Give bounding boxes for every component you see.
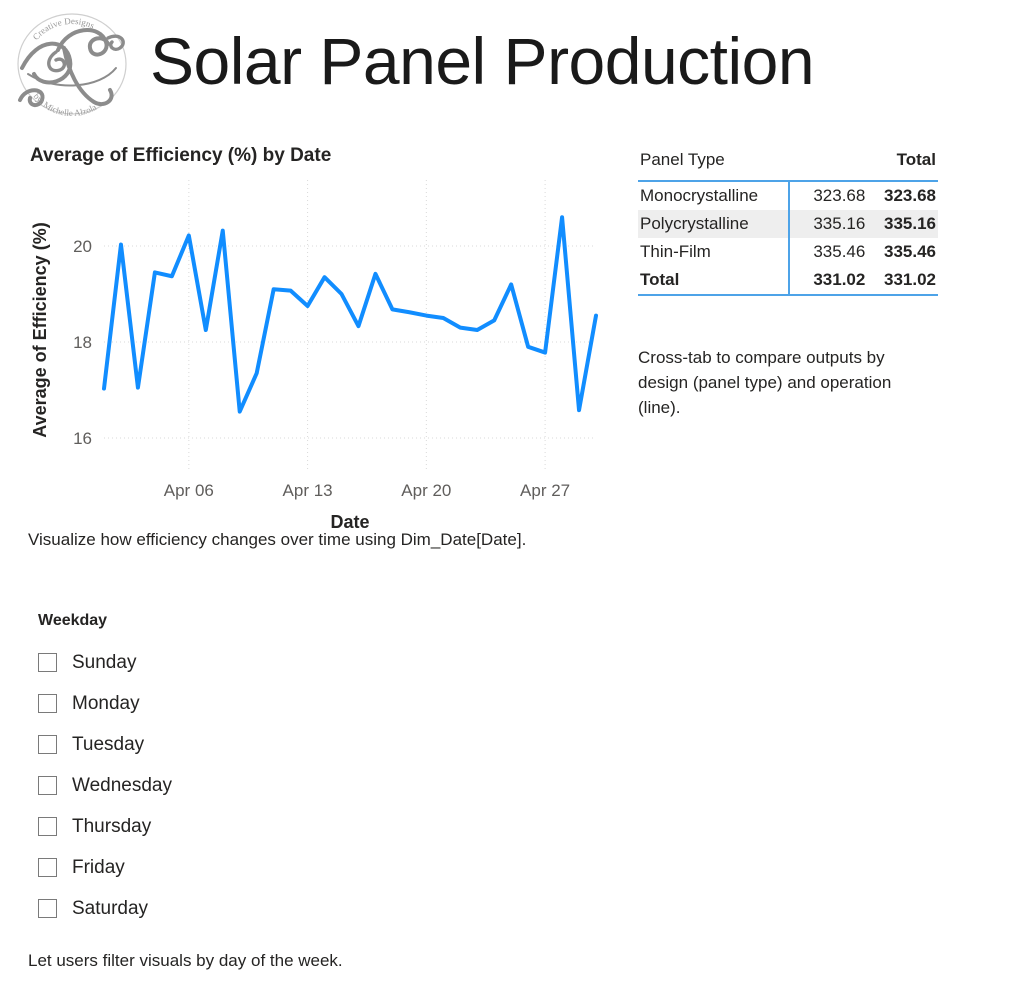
line-chart-caption: Visualize how efficiency changes over ti… [28, 530, 526, 550]
list-item[interactable]: Thursday [38, 806, 358, 847]
matrix-row-total: 335.46 [871, 238, 938, 266]
table-row[interactable]: Monocrystalline 323.68 323.68 [638, 181, 938, 210]
checkbox-icon[interactable] [38, 776, 57, 795]
y-axis-tick-label: 16 [73, 429, 92, 448]
chart-plot-container[interactable]: 161820Apr 06Apr 13Apr 20Apr 27DateAverag… [24, 172, 604, 540]
chart-title: Average of Efficiency (%) by Date [30, 145, 331, 167]
checkbox-icon[interactable] [38, 653, 57, 672]
slicer-caption: Let users filter visuals by day of the w… [28, 951, 343, 971]
matrix-total-label: Total [638, 266, 789, 295]
matrix-total-row[interactable]: Total 331.02 331.02 [638, 266, 938, 295]
matrix-row-value: 323.68 [789, 181, 871, 210]
table-row[interactable]: Thin-Film 335.46 335.46 [638, 238, 938, 266]
matrix-row-label[interactable]: Monocrystalline [638, 181, 789, 210]
matrix-row-value: 335.46 [789, 238, 871, 266]
chart-series-line[interactable] [104, 217, 596, 411]
slicer-item-label: Monday [72, 693, 140, 715]
list-item[interactable]: Wednesday [38, 765, 358, 806]
checkbox-icon[interactable] [38, 899, 57, 918]
list-item[interactable]: Saturday [38, 888, 358, 929]
brand-logo: Creative Designs by: Michelle Alzola [8, 8, 136, 120]
matrix-header-row: Panel Type Total [638, 148, 938, 181]
y-axis-title: Average of Efficiency (%) [30, 222, 50, 437]
slicer-item-label: Saturday [72, 898, 148, 920]
page-header: Creative Designs by: Michelle Alzola Sol… [0, 0, 1011, 128]
matrix-col-total[interactable]: Total [871, 148, 938, 181]
checkbox-icon[interactable] [38, 735, 57, 754]
weekday-slicer[interactable]: Weekday SundayMondayTuesdayWednesdayThur… [38, 612, 358, 929]
table-row[interactable]: Polycrystalline 335.16 335.16 [638, 210, 938, 238]
checkbox-icon[interactable] [38, 694, 57, 713]
checkbox-icon[interactable] [38, 817, 57, 836]
matrix-visual[interactable]: Panel Type Total Monocrystalline 323.68 … [638, 148, 938, 296]
x-axis-tick-label: Apr 06 [164, 481, 214, 500]
slicer-item-label: Tuesday [72, 734, 144, 756]
slicer-item-label: Thursday [72, 816, 151, 838]
x-axis-tick-label: Apr 20 [401, 481, 451, 500]
slicer-item-label: Friday [72, 857, 125, 879]
page-title: Solar Panel Production [150, 18, 814, 104]
matrix-table[interactable]: Panel Type Total Monocrystalline 323.68 … [638, 148, 938, 296]
matrix-col-blank[interactable] [789, 148, 871, 181]
slicer-item-label: Sunday [72, 652, 136, 674]
slicer-item-label: Wednesday [72, 775, 172, 797]
matrix-row-label[interactable]: Thin-Film [638, 238, 789, 266]
list-item[interactable]: Tuesday [38, 724, 358, 765]
line-chart-svg[interactable]: 161820Apr 06Apr 13Apr 20Apr 27DateAverag… [24, 172, 604, 540]
matrix-row-label[interactable]: Polycrystalline [638, 210, 789, 238]
y-axis-tick-label: 18 [73, 333, 92, 352]
matrix-caption: Cross-tab to compare outputs by design (… [638, 345, 938, 420]
matrix-body: Monocrystalline 323.68 323.68 Polycrysta… [638, 181, 938, 295]
slicer-header: Weekday [38, 612, 358, 630]
checkbox-icon[interactable] [38, 858, 57, 877]
matrix-total-total: 331.02 [871, 266, 938, 295]
x-axis-tick-label: Apr 27 [520, 481, 570, 500]
matrix-col-panel-type[interactable]: Panel Type [638, 148, 789, 181]
slicer-item-list[interactable]: SundayMondayTuesdayWednesdayThursdayFrid… [38, 642, 358, 929]
matrix-total-value: 331.02 [789, 266, 871, 295]
matrix-row-value: 335.16 [789, 210, 871, 238]
list-item[interactable]: Friday [38, 847, 358, 888]
list-item[interactable]: Sunday [38, 642, 358, 683]
list-item[interactable]: Monday [38, 683, 358, 724]
x-axis-tick-label: Apr 13 [283, 481, 333, 500]
matrix-row-total: 323.68 [871, 181, 938, 210]
matrix-row-total: 335.16 [871, 210, 938, 238]
y-axis-tick-label: 20 [73, 237, 92, 256]
line-chart-visual[interactable]: Average of Efficiency (%) by Date 161820… [24, 140, 604, 540]
x-axis-title: Date [330, 512, 369, 532]
